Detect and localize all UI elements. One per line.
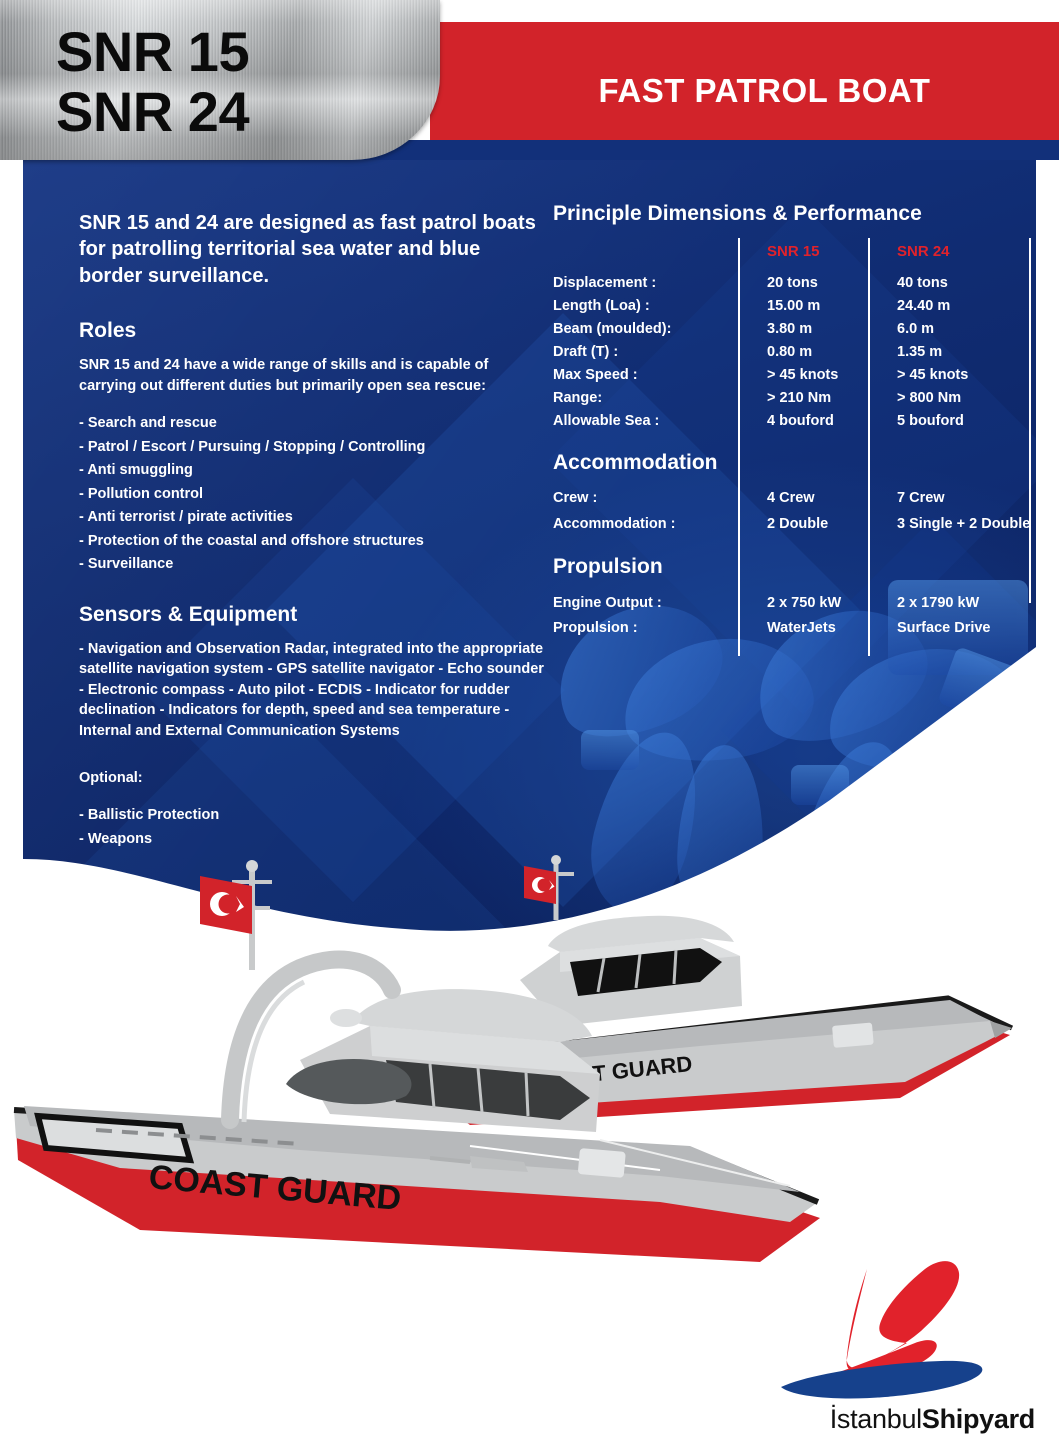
- column-header-blank: [553, 232, 753, 272]
- turkish-flag: [200, 876, 252, 934]
- row-value-snr15: 0.80 m: [753, 341, 883, 364]
- row-value-snr15: 2 x 750 kW: [753, 591, 883, 616]
- table-header-row: SNR 15 SNR 24: [553, 232, 1023, 272]
- logo-wordmark: İstanbulShipyard: [735, 1404, 1035, 1435]
- row-value-snr24: 6.0 m: [883, 318, 1033, 341]
- left-column: SNR 15 and 24 are designed as fast patro…: [79, 210, 549, 851]
- column-header-snr15: SNR 15: [753, 232, 883, 272]
- table-row: Range: > 210 Nm > 800 Nm: [553, 387, 1023, 410]
- model-plate-text: SNR 15 SNR 24: [56, 22, 249, 143]
- model-line-1: SNR 15: [56, 22, 249, 82]
- model-line-2: SNR 24: [56, 82, 249, 142]
- sensors-body: - Navigation and Observation Radar, inte…: [79, 639, 549, 742]
- row-value-snr15: 4 bouford: [753, 410, 883, 433]
- table-row: Beam (moulded): 3.80 m 6.0 m: [553, 318, 1023, 341]
- roles-intro: SNR 15 and 24 have a wide range of skill…: [79, 355, 549, 396]
- row-value-snr15: WaterJets: [753, 616, 883, 641]
- row-label: Length (Loa) :: [553, 295, 753, 318]
- accommodation-heading: Accommodation: [553, 451, 1023, 475]
- row-label: Displacement :: [553, 272, 753, 295]
- turkish-flag: [524, 866, 556, 904]
- brand-light: İstanbul: [830, 1404, 922, 1434]
- row-value-snr24: 3 Single + 2 Double: [883, 511, 1033, 537]
- row-value-snr24: 7 Crew: [883, 485, 1033, 511]
- list-item: - Protection of the coastal and offshore…: [79, 530, 549, 553]
- table-divider-2: [868, 238, 870, 656]
- table-row: Length (Loa) : 15.00 m 24.40 m: [553, 295, 1023, 318]
- table-row: Accommodation : 2 Double 3 Single + 2 Do…: [553, 511, 1023, 537]
- row-label: Engine Output :: [553, 591, 753, 616]
- row-value-snr15: 15.00 m: [753, 295, 883, 318]
- right-column: Principle Dimensions & Performance SNR 1…: [553, 202, 1023, 641]
- propulsion-table: Engine Output : 2 x 750 kW 2 x 1790 kW P…: [553, 591, 1023, 641]
- dimensions-table: SNR 15 SNR 24 Displacement : 20 tons 40 …: [553, 232, 1023, 433]
- accommodation-table: Crew : 4 Crew 7 Crew Accommodation : 2 D…: [553, 485, 1023, 537]
- dimensions-heading: Principle Dimensions & Performance: [553, 202, 1023, 226]
- row-value-snr24: 40 tons: [883, 272, 1033, 295]
- row-value-snr24: > 45 knots: [883, 364, 1033, 387]
- list-item: - Anti smuggling: [79, 459, 549, 482]
- list-item: - Patrol / Escort / Pursuing / Stopping …: [79, 436, 549, 459]
- row-label: Accommodation :: [553, 511, 753, 537]
- optional-heading: Optional:: [79, 768, 549, 789]
- row-value-snr24: 24.40 m: [883, 295, 1033, 318]
- page-header: FAST PATROL BOAT SNR 15 SNR 24: [0, 0, 1059, 160]
- propulsion-heading: Propulsion: [553, 555, 1023, 579]
- table-row: Displacement : 20 tons 40 tons: [553, 272, 1023, 295]
- row-value-snr15: 20 tons: [753, 272, 883, 295]
- model-plate: SNR 15 SNR 24: [0, 0, 440, 160]
- row-value-snr24: 1.35 m: [883, 341, 1033, 364]
- list-item: - Pollution control: [79, 483, 549, 506]
- row-label: Max Speed :: [553, 364, 753, 387]
- datasheet-page: FAST PATROL BOAT SNR 15 SNR 24: [0, 0, 1059, 1440]
- row-label: Propulsion :: [553, 616, 753, 641]
- row-value-snr24: 2 x 1790 kW: [883, 591, 1033, 616]
- row-value-snr15: 2 Double: [753, 511, 883, 537]
- brand-bold: Shipyard: [922, 1404, 1035, 1434]
- table-row: Crew : 4 Crew 7 Crew: [553, 485, 1023, 511]
- table-row: Draft (T) : 0.80 m 1.35 m: [553, 341, 1023, 364]
- table-row: Propulsion : WaterJets Surface Drive: [553, 616, 1023, 641]
- roles-list: - Search and rescue - Patrol / Escort / …: [79, 412, 549, 576]
- table-divider-3: [1029, 238, 1031, 603]
- row-value-snr15: > 45 knots: [753, 364, 883, 387]
- row-label: Crew :: [553, 485, 753, 511]
- logo-mark: [735, 1255, 1035, 1405]
- table-row: Allowable Sea : 4 bouford 5 bouford: [553, 410, 1023, 433]
- row-value-snr24: Surface Drive: [883, 616, 1033, 641]
- row-value-snr15: > 210 Nm: [753, 387, 883, 410]
- list-item: - Surveillance: [79, 553, 549, 576]
- row-value-snr15: 4 Crew: [753, 485, 883, 511]
- row-value-snr24: 5 bouford: [883, 410, 1033, 433]
- table-row: Max Speed : > 45 knots > 45 knots: [553, 364, 1023, 387]
- hull-swoosh: [781, 1361, 982, 1399]
- row-label: Range:: [553, 387, 753, 410]
- list-item: - Anti terrorist / pirate activities: [79, 506, 549, 529]
- row-label: Draft (T) :: [553, 341, 753, 364]
- row-value-snr15: 3.80 m: [753, 318, 883, 341]
- row-label: Beam (moulded):: [553, 318, 753, 341]
- company-logo: İstanbulShipyard: [735, 1255, 1035, 1435]
- list-item: - Ballistic Protection: [79, 804, 549, 827]
- intro-paragraph: SNR 15 and 24 are designed as fast patro…: [79, 210, 549, 289]
- roles-heading: Roles: [79, 319, 549, 343]
- patrol-boats-illustration: COAST GUARD: [0, 830, 1059, 1300]
- row-label: Allowable Sea :: [553, 410, 753, 433]
- row-value-snr24: > 800 Nm: [883, 387, 1033, 410]
- list-item: - Search and rescue: [79, 412, 549, 435]
- table-row: Engine Output : 2 x 750 kW 2 x 1790 kW: [553, 591, 1023, 616]
- column-header-snr24: SNR 24: [883, 232, 1033, 272]
- sensors-heading: Sensors & Equipment: [79, 603, 549, 627]
- table-divider-1: [738, 238, 740, 656]
